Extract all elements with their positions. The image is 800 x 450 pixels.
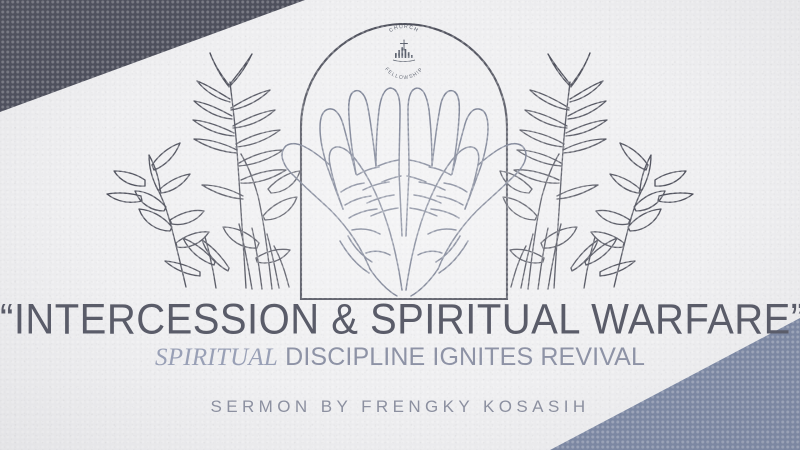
open-praying-hands-illustration <box>282 88 526 296</box>
quote-open: “ <box>0 297 14 344</box>
quote-close: ” <box>791 297 800 344</box>
subtitle-rest: DISCIPLINE IGNITES REVIVAL <box>278 343 645 371</box>
arch-frame <box>301 24 507 299</box>
title-text: INTERCESSION & SPIRITUAL WARFARE <box>14 297 791 344</box>
botanical-leaves-left <box>107 53 300 289</box>
speaker-byline: SERMON BY FRENGKY KOSASIH <box>0 397 800 417</box>
botanical-leaves-right <box>500 53 693 289</box>
church-fellowship-badge: CHURCH FELLOWSHIP <box>383 24 424 81</box>
badge-arc-text-bottom: FELLOWSHIP <box>383 66 424 81</box>
svg-text:FELLOWSHIP: FELLOWSHIP <box>383 66 424 81</box>
sermon-title-slide: CHURCH FELLOWSHIP <box>0 0 800 450</box>
subtitle: SPIRITUAL DISCIPLINE IGNITES REVIVAL <box>0 343 800 372</box>
slide-artwork: CHURCH FELLOWSHIP <box>0 0 800 450</box>
subtitle-emphasis: SPIRITUAL <box>155 344 278 371</box>
page-title: “INTERCESSION & SPIRITUAL WARFARE” <box>0 297 800 345</box>
